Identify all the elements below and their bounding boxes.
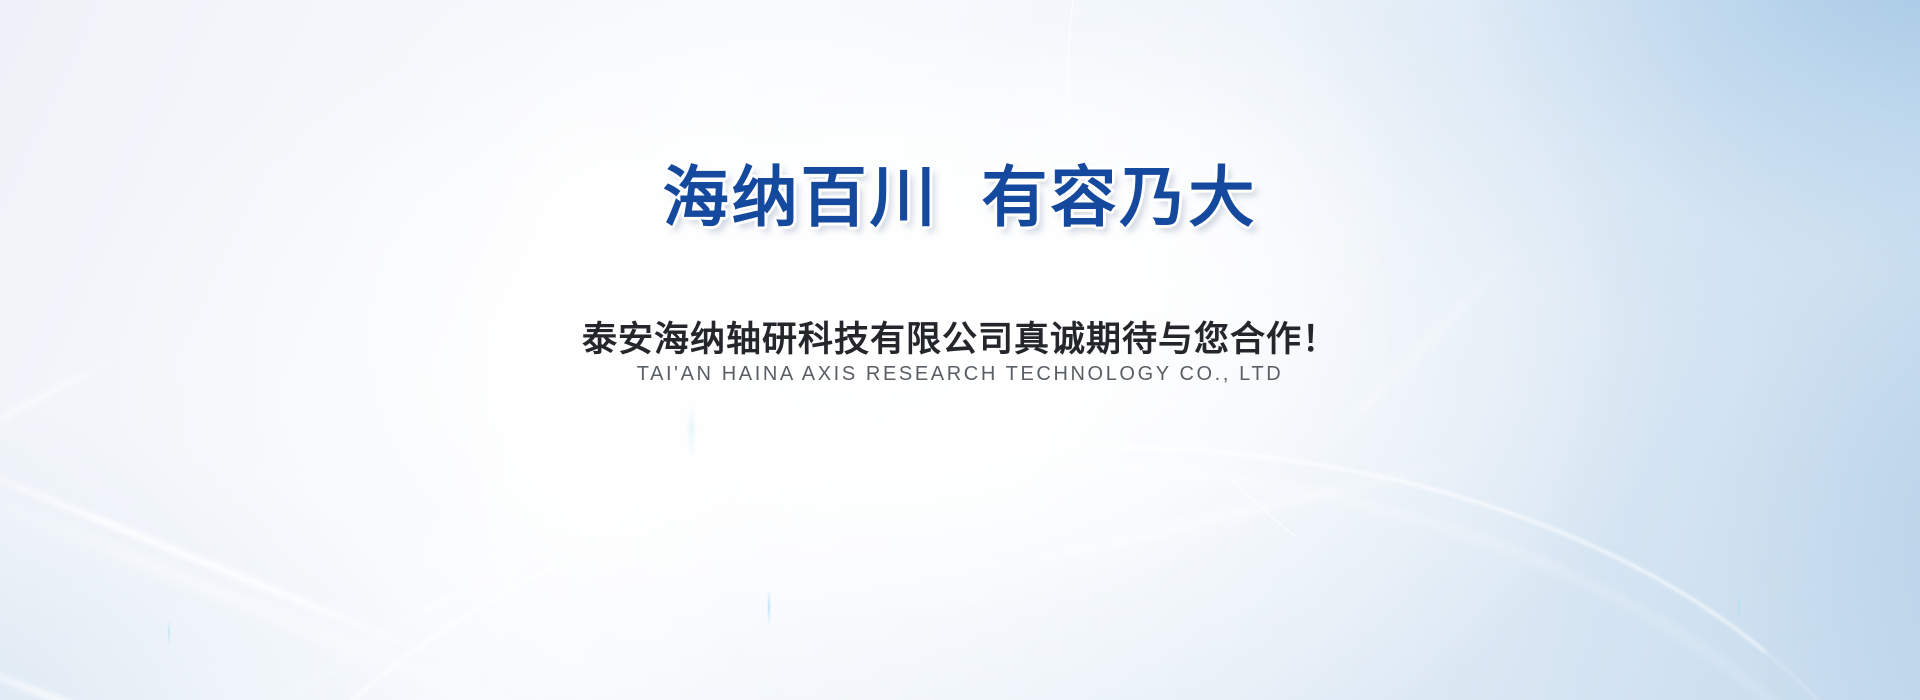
banner-content: 海纳百川 有容乃大 泰安海纳轴研科技有限公司真诚期待与您合作！ TAI'AN H… — [0, 0, 1920, 700]
hero-banner: 海纳百川 有容乃大 泰安海纳轴研科技有限公司真诚期待与您合作！ TAI'AN H… — [0, 0, 1920, 700]
banner-headline: 海纳百川 有容乃大 — [0, 163, 1920, 232]
banner-subtitle-english: TAI'AN HAINA AXIS RESEARCH TECHNOLOGY CO… — [0, 363, 1920, 386]
banner-subtitle-chinese: 泰安海纳轴研科技有限公司真诚期待与您合作！ — [0, 311, 1920, 362]
